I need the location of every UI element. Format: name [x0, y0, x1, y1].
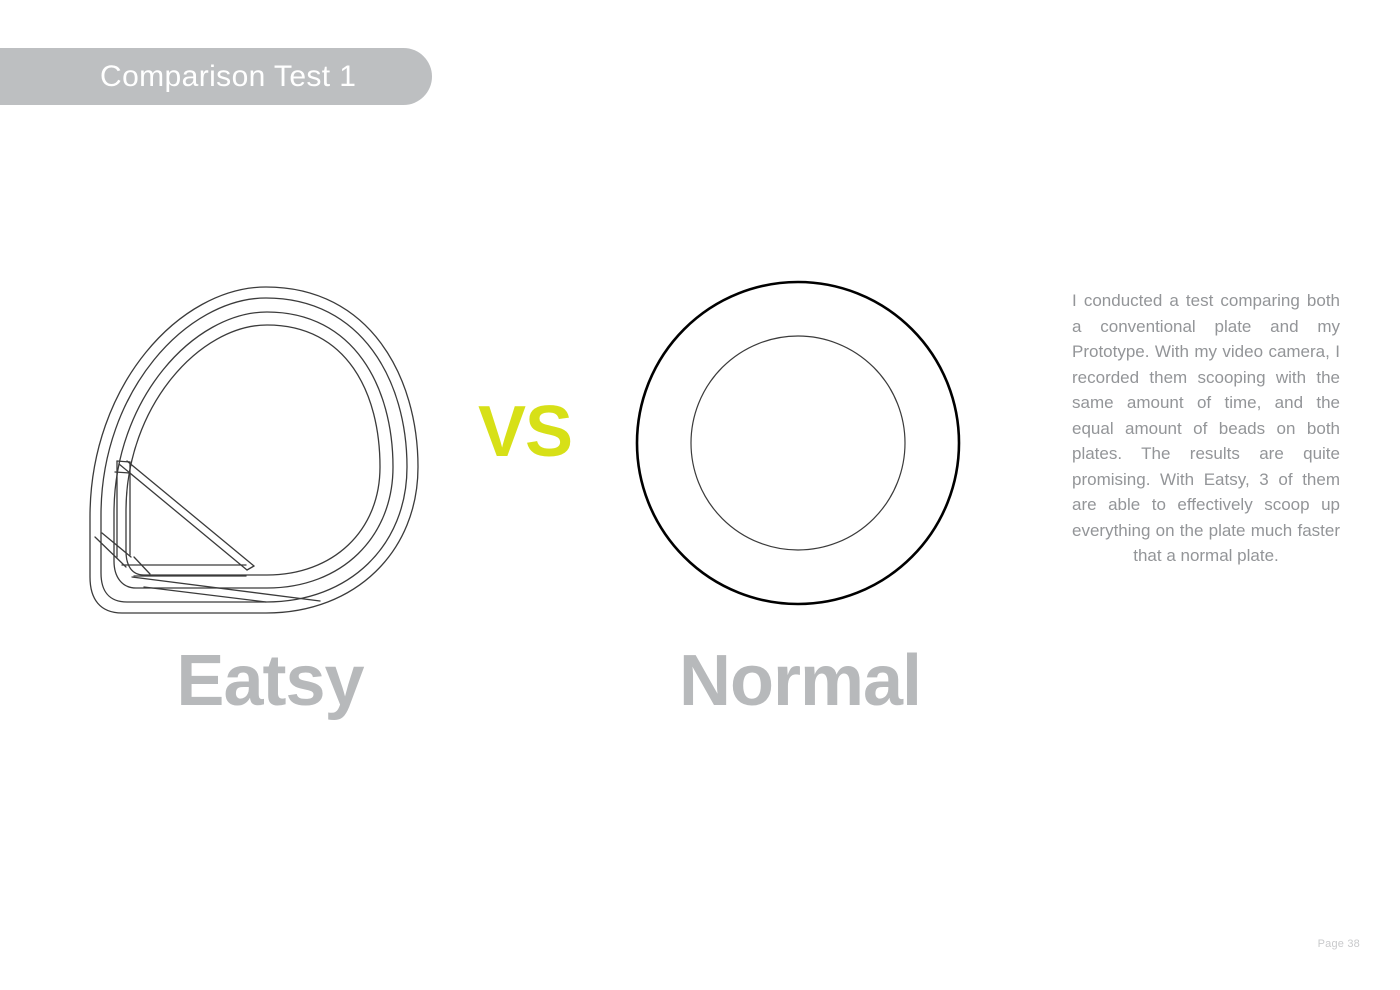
comparison-stage: VS Eatsy Normal — [0, 0, 1040, 990]
plate-inner-circle — [691, 336, 905, 550]
eatsy-plate-figure — [70, 265, 470, 645]
description-text: I conducted a test comparing both a conv… — [1072, 288, 1340, 569]
normal-plate-line-drawing — [620, 265, 980, 625]
normal-plate-figure — [620, 265, 980, 625]
normal-caption: Normal — [600, 645, 1000, 717]
vs-label: VS — [455, 396, 595, 468]
eatsy-caption: Eatsy — [60, 645, 480, 717]
plate-outer-circle — [637, 282, 959, 604]
eatsy-plate-line-drawing — [70, 265, 470, 645]
page-number: Page 38 — [1240, 938, 1360, 950]
